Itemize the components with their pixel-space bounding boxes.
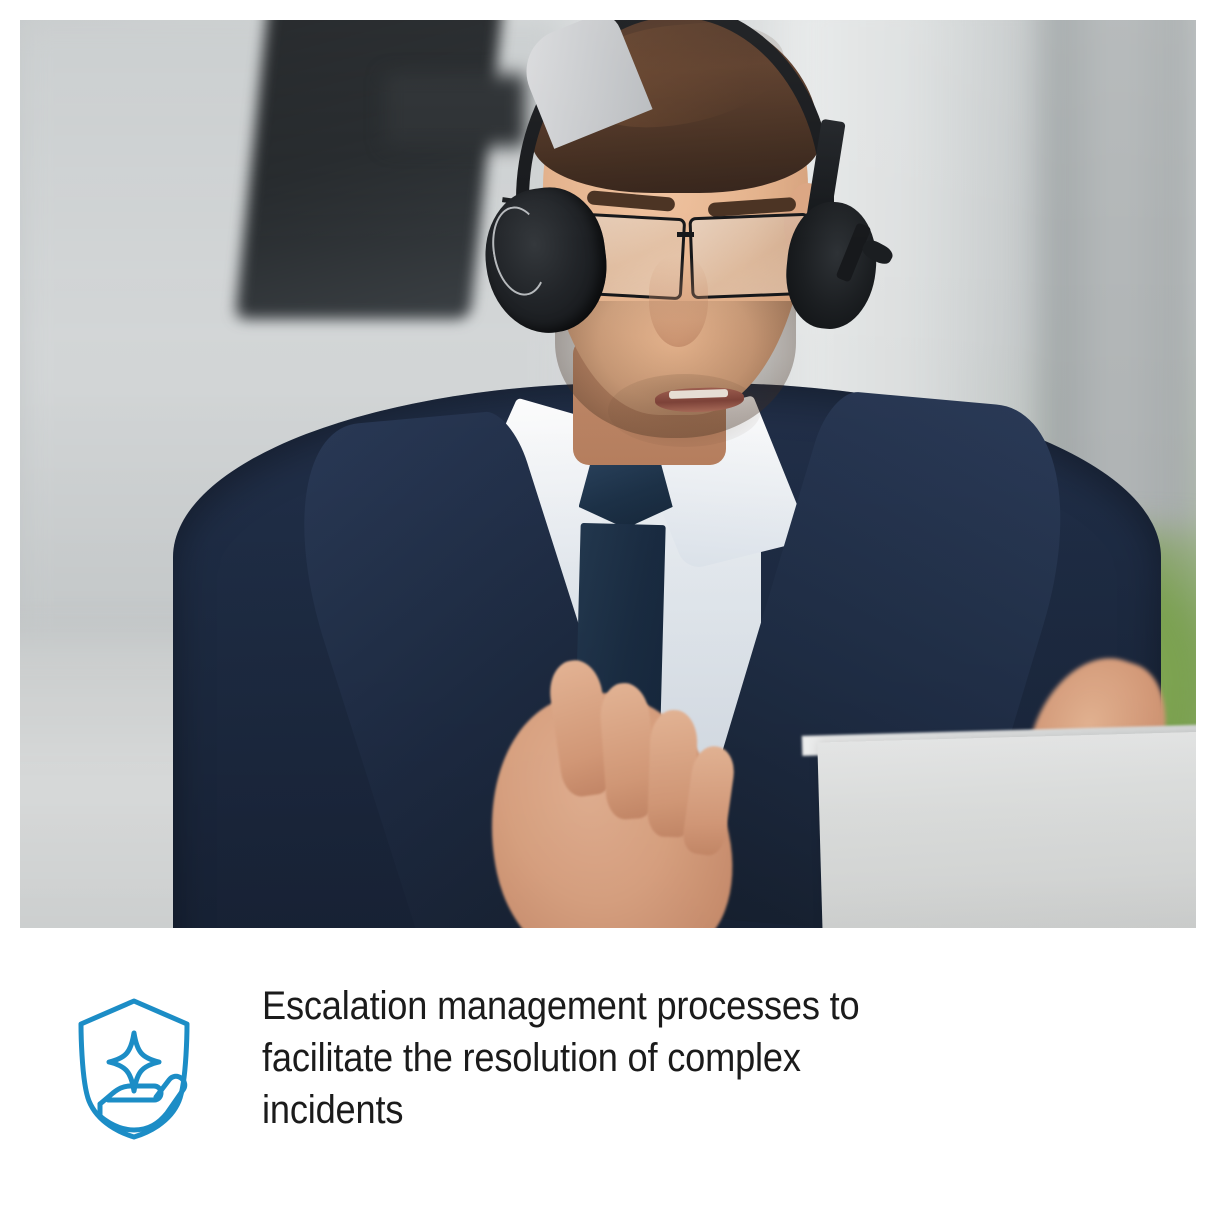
shield-hand-star-icon — [75, 997, 193, 1141]
background-pendant-lamp — [235, 20, 510, 320]
sparkle-star-path — [109, 1033, 159, 1091]
hero-photo — [20, 20, 1196, 928]
hand-fingers-path — [100, 1086, 161, 1104]
page-root: Escalation management processes to facil… — [0, 0, 1214, 1214]
laptop-lid — [817, 732, 1196, 928]
caption-block: Escalation management processes to facil… — [20, 960, 1196, 1175]
background-pendant-lamp-secondary — [385, 74, 526, 147]
shield-outline-path — [81, 1001, 187, 1137]
caption-text: Escalation management processes to facil… — [262, 980, 1095, 1136]
caption-icon-wrapper — [75, 997, 205, 1141]
